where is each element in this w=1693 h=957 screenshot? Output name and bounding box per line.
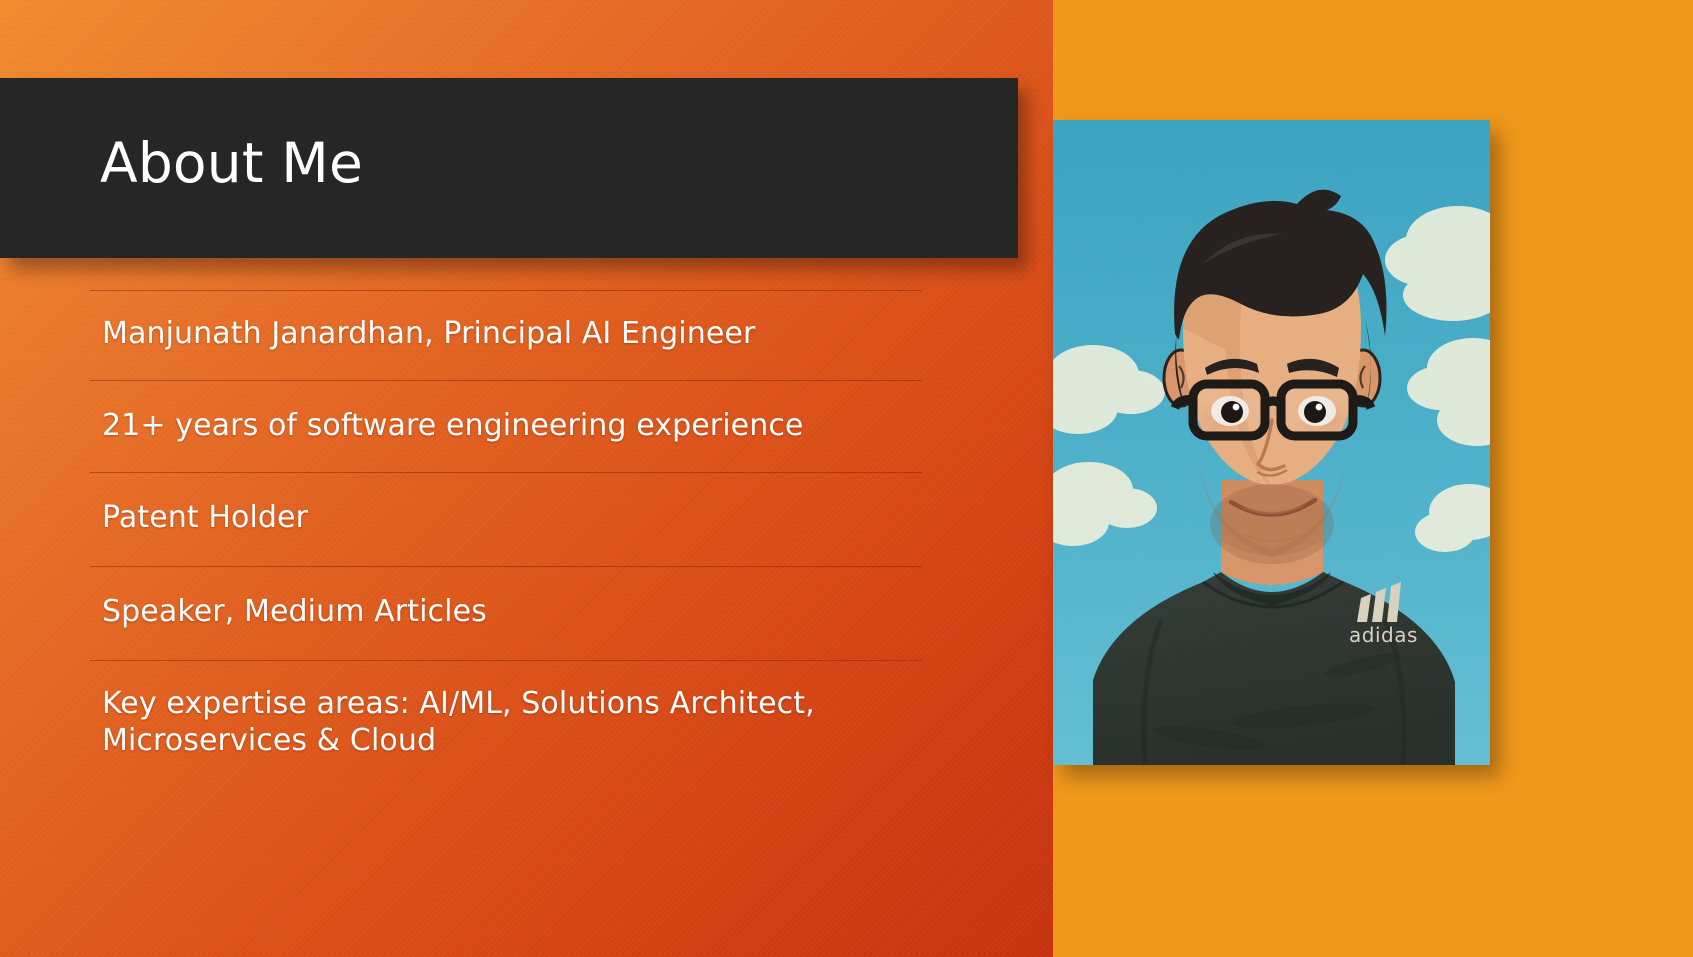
bullet-text: Patent Holder [102,499,920,536]
list-item: 21+ years of software engineering experi… [90,380,922,472]
bullet-text: Speaker, Medium Articles [102,593,920,630]
portrait-illustration: adidas [1053,120,1490,765]
page-title: About Me [100,128,363,198]
bullet-text: Key expertise areas: AI/ML, Solutions Ar… [102,685,920,759]
slide-canvas: About Me Manjunath Janardhan, Principal … [0,0,1693,957]
bullet-text: Manjunath Janardhan, Principal AI Engine… [102,315,920,352]
list-item: Speaker, Medium Articles [90,566,922,660]
bullet-text: 21+ years of software engineering experi… [102,407,920,444]
list-item: Key expertise areas: AI/ML, Solutions Ar… [90,660,922,769]
list-item: Manjunath Janardhan, Principal AI Engine… [90,290,922,380]
title-bar: About Me [0,78,1018,258]
list-item: Patent Holder [90,472,922,566]
bullet-list: Manjunath Janardhan, Principal AI Engine… [90,290,922,769]
portrait-photo: adidas [1053,120,1490,765]
